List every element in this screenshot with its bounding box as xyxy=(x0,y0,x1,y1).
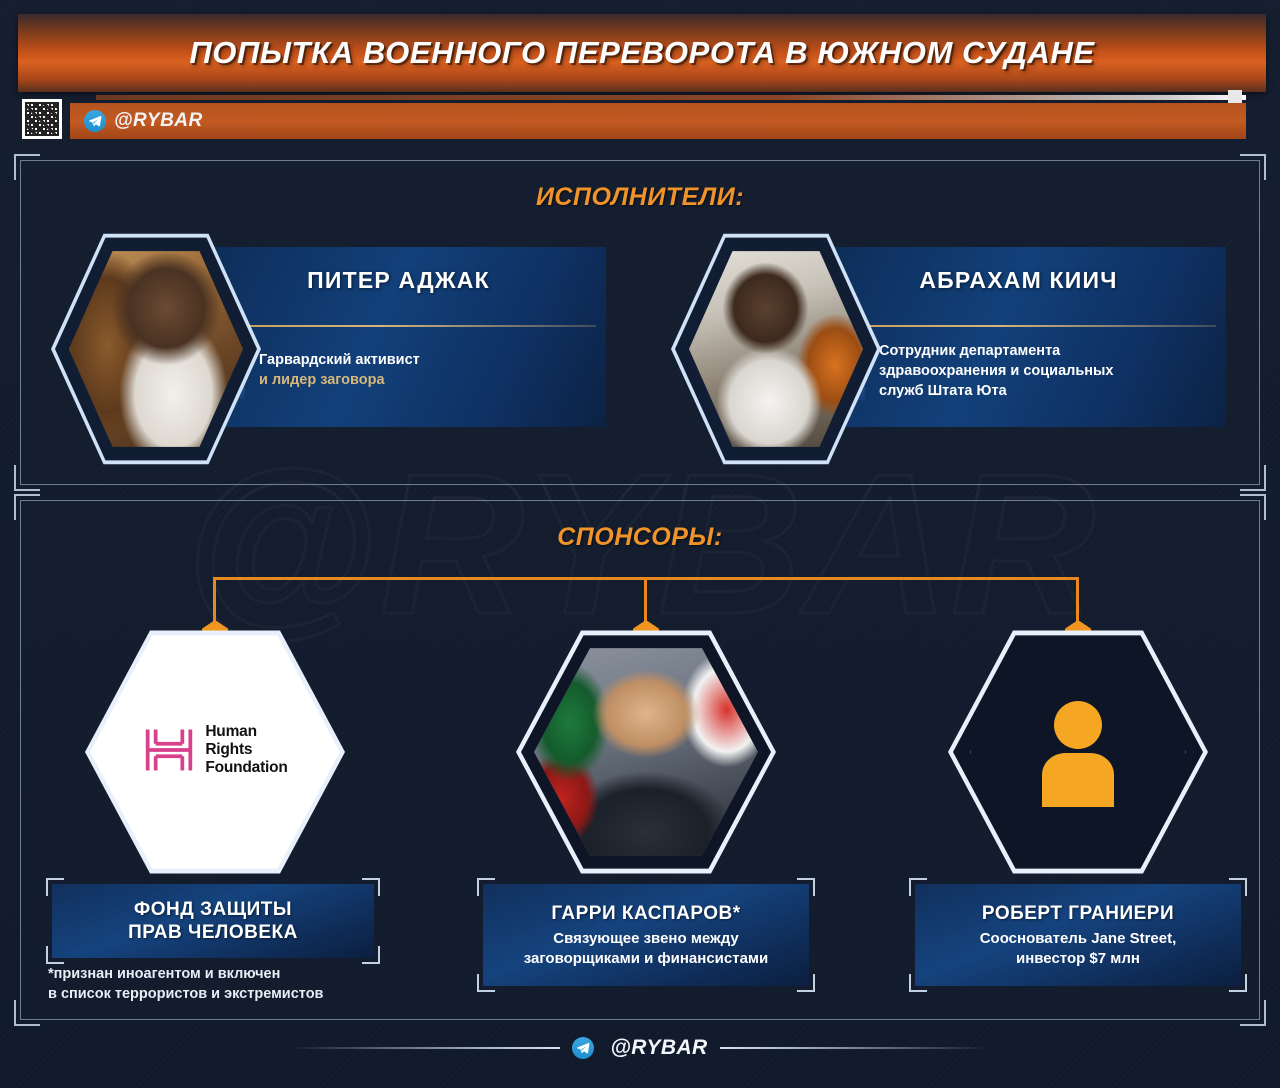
page-title: ПОПЫТКА ВОЕННОГО ПЕРЕВОРОТА В ЮЖНОМ СУДА… xyxy=(189,35,1094,71)
panel-corner-br xyxy=(1240,1000,1266,1026)
hrf-mark-icon xyxy=(142,726,196,774)
performer-2-role-line2: здравоохранения и социальных xyxy=(879,361,1113,381)
panel-corner-tr xyxy=(1240,154,1266,180)
panel-corner-bl xyxy=(14,1000,40,1026)
header-handle-text: @RYBAR xyxy=(114,110,203,132)
sponsor-2-desc-line2: заговорщиками и финансистами xyxy=(493,949,799,968)
sponsor-hexagon-1: Human Rights Foundation xyxy=(85,628,345,876)
hrf-text-line2: Rights xyxy=(205,741,287,759)
panel-corner-tr xyxy=(1240,494,1266,520)
performers-panel: ИСПОЛНИТЕЛИ: ПИТЕР АДЖАК Гарвардский акт… xyxy=(20,160,1260,485)
performer-card-2: АБРАХАМ КИИЧ Сотрудник департамента здр xyxy=(661,229,1241,469)
telegram-icon xyxy=(84,110,106,132)
hrf-text-line3: Foundation xyxy=(205,759,287,777)
performer-card-1: ПИТЕР АДЖАК Гарвардский активист и лидер… xyxy=(41,229,611,469)
performer-2-role-line1: Сотрудник департамента xyxy=(879,341,1113,361)
sponsor-3-name: РОБЕРТ ГРАНИЕРИ xyxy=(925,902,1231,925)
hrf-logo-text: Human Rights Foundation xyxy=(205,723,287,777)
performer-1-role: Гарвардский активист и лидер заговора xyxy=(259,350,420,390)
sponsor-1-name-line1: ФОНД ЗАЩИТЫ xyxy=(62,898,364,921)
performer-1-portrait xyxy=(51,229,261,469)
sponsors-footnote: *признан иноагентом и включен в список т… xyxy=(48,965,388,1004)
sponsor-2-desc-line1: Связующее звено между xyxy=(493,929,799,948)
panel-corner-bl xyxy=(14,465,40,491)
panel-corner-br xyxy=(1240,465,1266,491)
sponsor-label-1: ФОНД ЗАЩИТЫ ПРАВ ЧЕЛОВЕКА xyxy=(52,884,374,958)
header-underbar xyxy=(96,95,1246,100)
panel-corner-tl xyxy=(14,154,40,180)
performer-2-role: Сотрудник департамента здравоохранения и… xyxy=(879,341,1113,401)
hrf-text-line1: Human xyxy=(205,723,287,741)
infographic-page: @RYBAR ПОПЫТКА ВОЕННОГО ПЕРЕВОРОТА В ЮЖН… xyxy=(0,0,1280,1088)
sponsor-3-desc-line2: инвестор $7 млн xyxy=(925,949,1231,968)
sponsor-2-desc: Связующее звено между заговорщиками и фи… xyxy=(493,929,799,967)
performer-2-portrait xyxy=(671,229,881,469)
header-banner: ПОПЫТКА ВОЕННОГО ПЕРЕВОРОТА В ЮЖНОМ СУДА… xyxy=(18,14,1266,92)
sponsor-label-2: ГАРРИ КАСПАРОВ* Связующее звено между за… xyxy=(483,884,809,986)
footer: @RYBAR xyxy=(0,1036,1280,1060)
footer-line-right xyxy=(720,1047,990,1049)
footer-handle: @RYBAR xyxy=(610,1036,707,1060)
sponsor-3-desc-line1: Сооснователь Jane Street, xyxy=(925,929,1231,948)
performer-2-role-line3: служб Штата Юта xyxy=(879,381,1113,401)
human-rights-foundation-logo: Human Rights Foundation xyxy=(142,723,287,777)
sponsor-2-name: ГАРРИ КАСПАРОВ* xyxy=(493,902,799,925)
header-underbar-cap xyxy=(1228,90,1242,103)
sponsor-hexagon-2 xyxy=(516,628,776,876)
sponsor-1-name: ФОНД ЗАЩИТЫ ПРАВ ЧЕЛОВЕКА xyxy=(62,898,364,944)
performer-1-role-line2: и лидер заговора xyxy=(259,370,420,390)
footer-brand: @RYBAR xyxy=(572,1036,707,1060)
header-handle-bar: @RYBAR xyxy=(70,103,1246,139)
sponsor-hexagon-3 xyxy=(948,628,1208,876)
performer-1-role-line1: Гарвардский активист xyxy=(259,350,420,370)
person-placeholder-icon xyxy=(1030,697,1126,807)
footnote-line2: в список террористов и экстремистов xyxy=(48,985,388,1005)
sponsor-label-3: РОБЕРТ ГРАНИЕРИ Сооснователь Jane Street… xyxy=(915,884,1241,986)
qr-code-icon xyxy=(22,99,62,139)
footer-line-left xyxy=(290,1047,560,1049)
telegram-icon xyxy=(572,1037,594,1059)
sponsor-1-name-line2: ПРАВ ЧЕЛОВЕКА xyxy=(62,921,364,944)
sponsor-3-desc: Сооснователь Jane Street, инвестор $7 мл… xyxy=(925,929,1231,967)
sponsors-section-title: СПОНСОРЫ: xyxy=(21,523,1259,552)
performers-section-title: ИСПОЛНИТЕЛИ: xyxy=(21,183,1259,212)
panel-corner-tl xyxy=(14,494,40,520)
footnote-line1: *признан иноагентом и включен xyxy=(48,965,388,985)
